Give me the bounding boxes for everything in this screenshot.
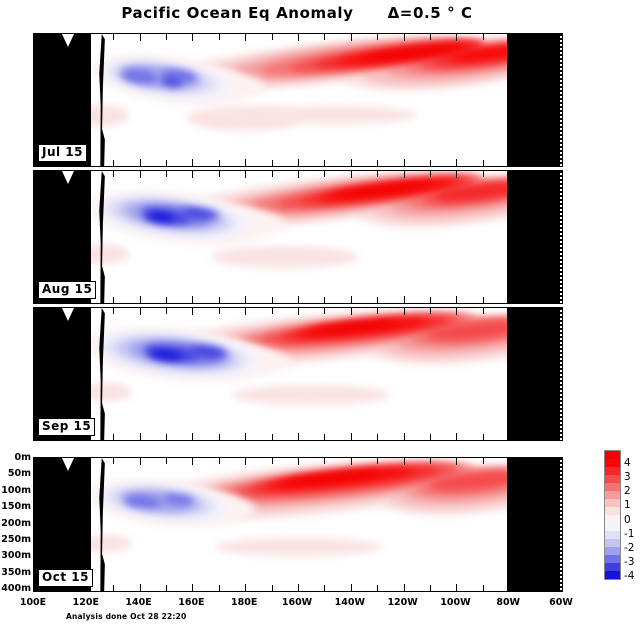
panel-plot-area [34,308,562,440]
axis-tick [298,433,299,440]
axis-tick-minor [483,171,484,177]
colorbar-band [605,491,620,499]
panel-label: Jul 15 [38,144,87,162]
axis-tick [456,34,457,41]
colorbar-band [605,539,620,547]
axis-tick [245,308,246,315]
axis-tick [404,458,405,465]
axis-tick-minor [536,458,537,464]
axis-tick [562,584,563,591]
axis-tick [298,171,299,178]
axis-tick [456,296,457,303]
axis-tick-minor [113,171,114,177]
axis-tick-minor [377,34,378,40]
longitude-tick-label: 160E [178,597,204,608]
colorbar-band [605,523,620,531]
axis-tick [245,296,246,303]
analysis-timestamp: Analysis done Oct 28 22:20 [66,612,186,621]
axis-tick-minor [60,171,61,177]
panel-oct[interactable]: Oct 15 [33,457,563,592]
axis-tick [404,433,405,440]
axis-tick [140,171,141,178]
axis-tick-minor [219,160,220,166]
longitude-tick-label: 160W [282,597,312,608]
panel-jul[interactable]: Jul 15 [33,33,563,167]
axis-tick-minor [113,458,114,464]
axis-tick [351,308,352,315]
axis-tick [351,34,352,41]
land-mask-east [507,171,562,303]
axis-tick [298,34,299,41]
axis-tick-minor [483,585,484,591]
panel-plot-area [34,171,562,303]
depth-tick-label: 200m [0,519,31,529]
colorbar-band [605,475,620,483]
axis-tick-minor [536,34,537,40]
axis-tick-minor [166,458,167,464]
panel-plot-area [34,458,562,591]
longitude-tick-label: 60W [549,597,573,608]
contour-field [34,308,562,440]
axis-tick [140,34,141,41]
land-gap-notch [62,308,74,321]
axis-tick-minor [113,34,114,40]
axis-tick [509,171,510,178]
contour-blob [211,246,359,268]
axis-tick-minor [430,308,431,314]
axis-tick-minor [272,171,273,177]
chart-title: Pacific Ocean Eq AnomalyΔ=0.5 ° C [0,4,594,22]
axis-tick [192,458,193,465]
axis-tick [192,308,193,315]
longitude-tick-label: 120W [387,597,417,608]
axis-tick-minor [219,171,220,177]
axis-tick [404,159,405,166]
axis-tick [87,34,88,41]
axis-tick-minor [272,458,273,464]
axis-tick [509,296,510,303]
longitude-tick-label: 140W [335,597,365,608]
depth-tick-label: 400m [0,584,31,594]
colorbar-band [605,571,620,579]
panel-right-edge [560,458,562,591]
axis-tick [192,34,193,41]
axis-tick-minor [324,171,325,177]
axis-tick [87,308,88,315]
axis-tick-minor [324,308,325,314]
axis-tick [509,433,510,440]
longitude-tick-label: 100E [20,597,46,608]
title-text: Pacific Ocean Eq Anomaly [121,4,353,22]
colorbar [604,450,621,580]
depth-tick-label: 50m [0,469,31,479]
axis-tick-minor [219,308,220,314]
axis-tick [509,34,510,41]
land-mask-east [507,34,562,166]
panel-aug[interactable]: Aug 15 [33,170,563,304]
axis-tick-minor [324,160,325,166]
colorbar-band [605,507,620,515]
longitude-axis: 100E120E140E160E180E160W140W120W100W80W6… [33,597,563,611]
axis-tick-minor [430,297,431,303]
axis-tick [298,584,299,591]
axis-tick [245,34,246,41]
contour-blob [232,385,390,405]
land-mask-east [507,308,562,440]
axis-tick-minor [166,297,167,303]
colorbar-tick-label: -2 [624,543,634,554]
axis-tick [192,296,193,303]
axis-tick-minor [272,297,273,303]
axis-tick-minor [166,171,167,177]
colorbar-tick-label: -1 [624,529,634,540]
colorbar-tick-label: 0 [624,515,631,526]
axis-tick-minor [219,585,220,591]
axis-tick [404,171,405,178]
axis-tick [404,34,405,41]
axis-tick [34,584,35,591]
colorbar-band [605,467,620,475]
axis-tick-minor [324,34,325,40]
axis-tick-minor [536,297,537,303]
axis-tick-minor [219,34,220,40]
axis-tick [140,458,141,465]
axis-tick [456,458,457,465]
axis-tick-minor [60,308,61,314]
axis-tick-minor [272,585,273,591]
chart-root: Pacific Ocean Eq AnomalyΔ=0.5 ° C Jul 15… [0,0,640,640]
axis-tick [456,584,457,591]
longitude-tick-label: 180E [231,597,257,608]
longitude-tick-label: 100W [440,597,470,608]
axis-tick [140,433,141,440]
axis-tick [404,296,405,303]
axis-tick-minor [483,160,484,166]
depth-tick-label: 150m [0,502,31,512]
axis-tick [298,458,299,465]
colorbar-band [605,499,620,507]
contour-blob [214,538,383,556]
axis-tick [562,296,563,303]
axis-tick-minor [377,160,378,166]
axis-tick [456,433,457,440]
contour-field [34,458,562,591]
contour-field [34,171,562,303]
axis-tick-minor [166,585,167,591]
colorbar-band [605,515,620,523]
axis-tick-minor [166,308,167,314]
title-delta: Δ=0.5 ° C [388,4,473,22]
axis-tick [34,308,35,315]
axis-tick [87,458,88,465]
axis-tick [34,171,35,178]
colorbar-tick-label: 1 [624,500,631,511]
depth-tick-label: 250m [0,535,31,545]
axis-tick-minor [113,160,114,166]
axis-tick [456,159,457,166]
axis-tick-minor [377,434,378,440]
axis-tick [562,433,563,440]
axis-tick-minor [324,585,325,591]
axis-tick-minor [430,171,431,177]
axis-tick-minor [60,458,61,464]
longitude-tick-label: 120E [73,597,99,608]
axis-tick [34,296,35,303]
axis-tick [562,159,563,166]
axis-tick [140,159,141,166]
axis-tick-minor [113,308,114,314]
axis-tick-minor [166,34,167,40]
axis-tick [509,308,510,315]
longitude-tick-label: 140E [125,597,151,608]
colorbar-tick-label: 2 [624,486,631,497]
axis-tick [245,171,246,178]
depth-tick-label: 100m [0,486,31,496]
axis-tick-minor [60,34,61,40]
axis-tick-minor [430,458,431,464]
axis-tick-minor [324,458,325,464]
axis-tick-minor [536,171,537,177]
axis-tick-minor [430,34,431,40]
axis-tick-minor [219,458,220,464]
colorbar-band [605,555,620,563]
axis-tick [351,296,352,303]
axis-tick [351,584,352,591]
colorbar-tick-label: -4 [624,571,634,582]
axis-tick-minor [536,160,537,166]
axis-tick-minor [166,160,167,166]
axis-tick-minor [536,434,537,440]
axis-tick-minor [483,458,484,464]
panel-sep[interactable]: Sep 15 [33,307,563,441]
axis-tick [562,171,563,178]
axis-tick [509,458,510,465]
colorbar-tick-label: 3 [624,472,631,483]
axis-tick-minor [113,585,114,591]
axis-tick [351,433,352,440]
panel-label: Oct 15 [38,569,93,587]
axis-tick [562,34,563,41]
axis-tick [34,433,35,440]
axis-tick-minor [272,434,273,440]
colorbar-labels: 43210-1-2-3-4 [624,446,640,582]
axis-tick-minor [483,434,484,440]
colorbar-band [605,563,620,571]
colorbar-band [605,531,620,539]
axis-tick-minor [536,308,537,314]
axis-tick [404,584,405,591]
axis-tick-minor [536,585,537,591]
axis-tick-minor [324,434,325,440]
axis-tick [298,159,299,166]
axis-tick-minor [272,308,273,314]
depth-tick-label: 300m [0,551,31,561]
axis-tick [192,433,193,440]
axis-tick-minor [377,171,378,177]
colorbar-band [605,483,620,491]
axis-tick-minor [377,585,378,591]
colorbar-band [605,547,620,555]
axis-tick [298,296,299,303]
axis-tick [351,171,352,178]
axis-tick [245,433,246,440]
colorbar-band [605,459,620,467]
axis-tick-minor [377,308,378,314]
axis-tick-minor [219,434,220,440]
axis-tick-minor [166,434,167,440]
panel-label: Sep 15 [38,418,95,436]
axis-tick [192,584,193,591]
axis-tick-minor [113,297,114,303]
axis-tick [245,584,246,591]
axis-tick [34,34,35,41]
contour-blob [258,106,416,124]
panel-plot-area [34,34,562,166]
axis-tick-minor [272,34,273,40]
land-gap-notch [62,34,74,47]
axis-tick [34,159,35,166]
axis-tick-minor [219,297,220,303]
axis-tick [351,159,352,166]
panel-right-edge [560,171,562,303]
colorbar-tick-label: 4 [624,458,631,469]
panel-right-edge [560,308,562,440]
colorbar-tick-label: -3 [624,557,634,568]
axis-tick [192,171,193,178]
axis-tick [34,458,35,465]
axis-tick-minor [377,297,378,303]
axis-tick [404,308,405,315]
axis-tick-minor [430,160,431,166]
axis-tick [509,159,510,166]
axis-tick-minor [483,34,484,40]
axis-tick [456,308,457,315]
axis-tick [245,159,246,166]
panel-right-edge [560,34,562,166]
axis-tick-minor [272,160,273,166]
axis-tick-minor [483,297,484,303]
axis-tick [562,458,563,465]
axis-tick [87,171,88,178]
contour-field [34,34,562,166]
axis-tick-minor [377,458,378,464]
axis-tick [140,296,141,303]
colorbar-band [605,451,620,459]
axis-tick [140,584,141,591]
longitude-tick-label: 80W [496,597,520,608]
axis-tick [351,458,352,465]
land-mask-east [507,458,562,591]
axis-tick [562,308,563,315]
axis-tick [192,159,193,166]
axis-tick-minor [430,434,431,440]
axis-tick-minor [113,434,114,440]
panel-label: Aug 15 [38,281,96,299]
axis-tick [456,171,457,178]
axis-tick [140,308,141,315]
axis-tick-minor [324,297,325,303]
land-gap-notch [62,171,74,184]
land-gap-notch [62,458,74,471]
axis-tick [509,584,510,591]
axis-tick [298,308,299,315]
depth-tick-label: 350m [0,568,31,578]
axis-tick-minor [430,585,431,591]
axis-tick-minor [483,308,484,314]
axis-tick [245,458,246,465]
depth-tick-label: 0m [0,453,31,463]
